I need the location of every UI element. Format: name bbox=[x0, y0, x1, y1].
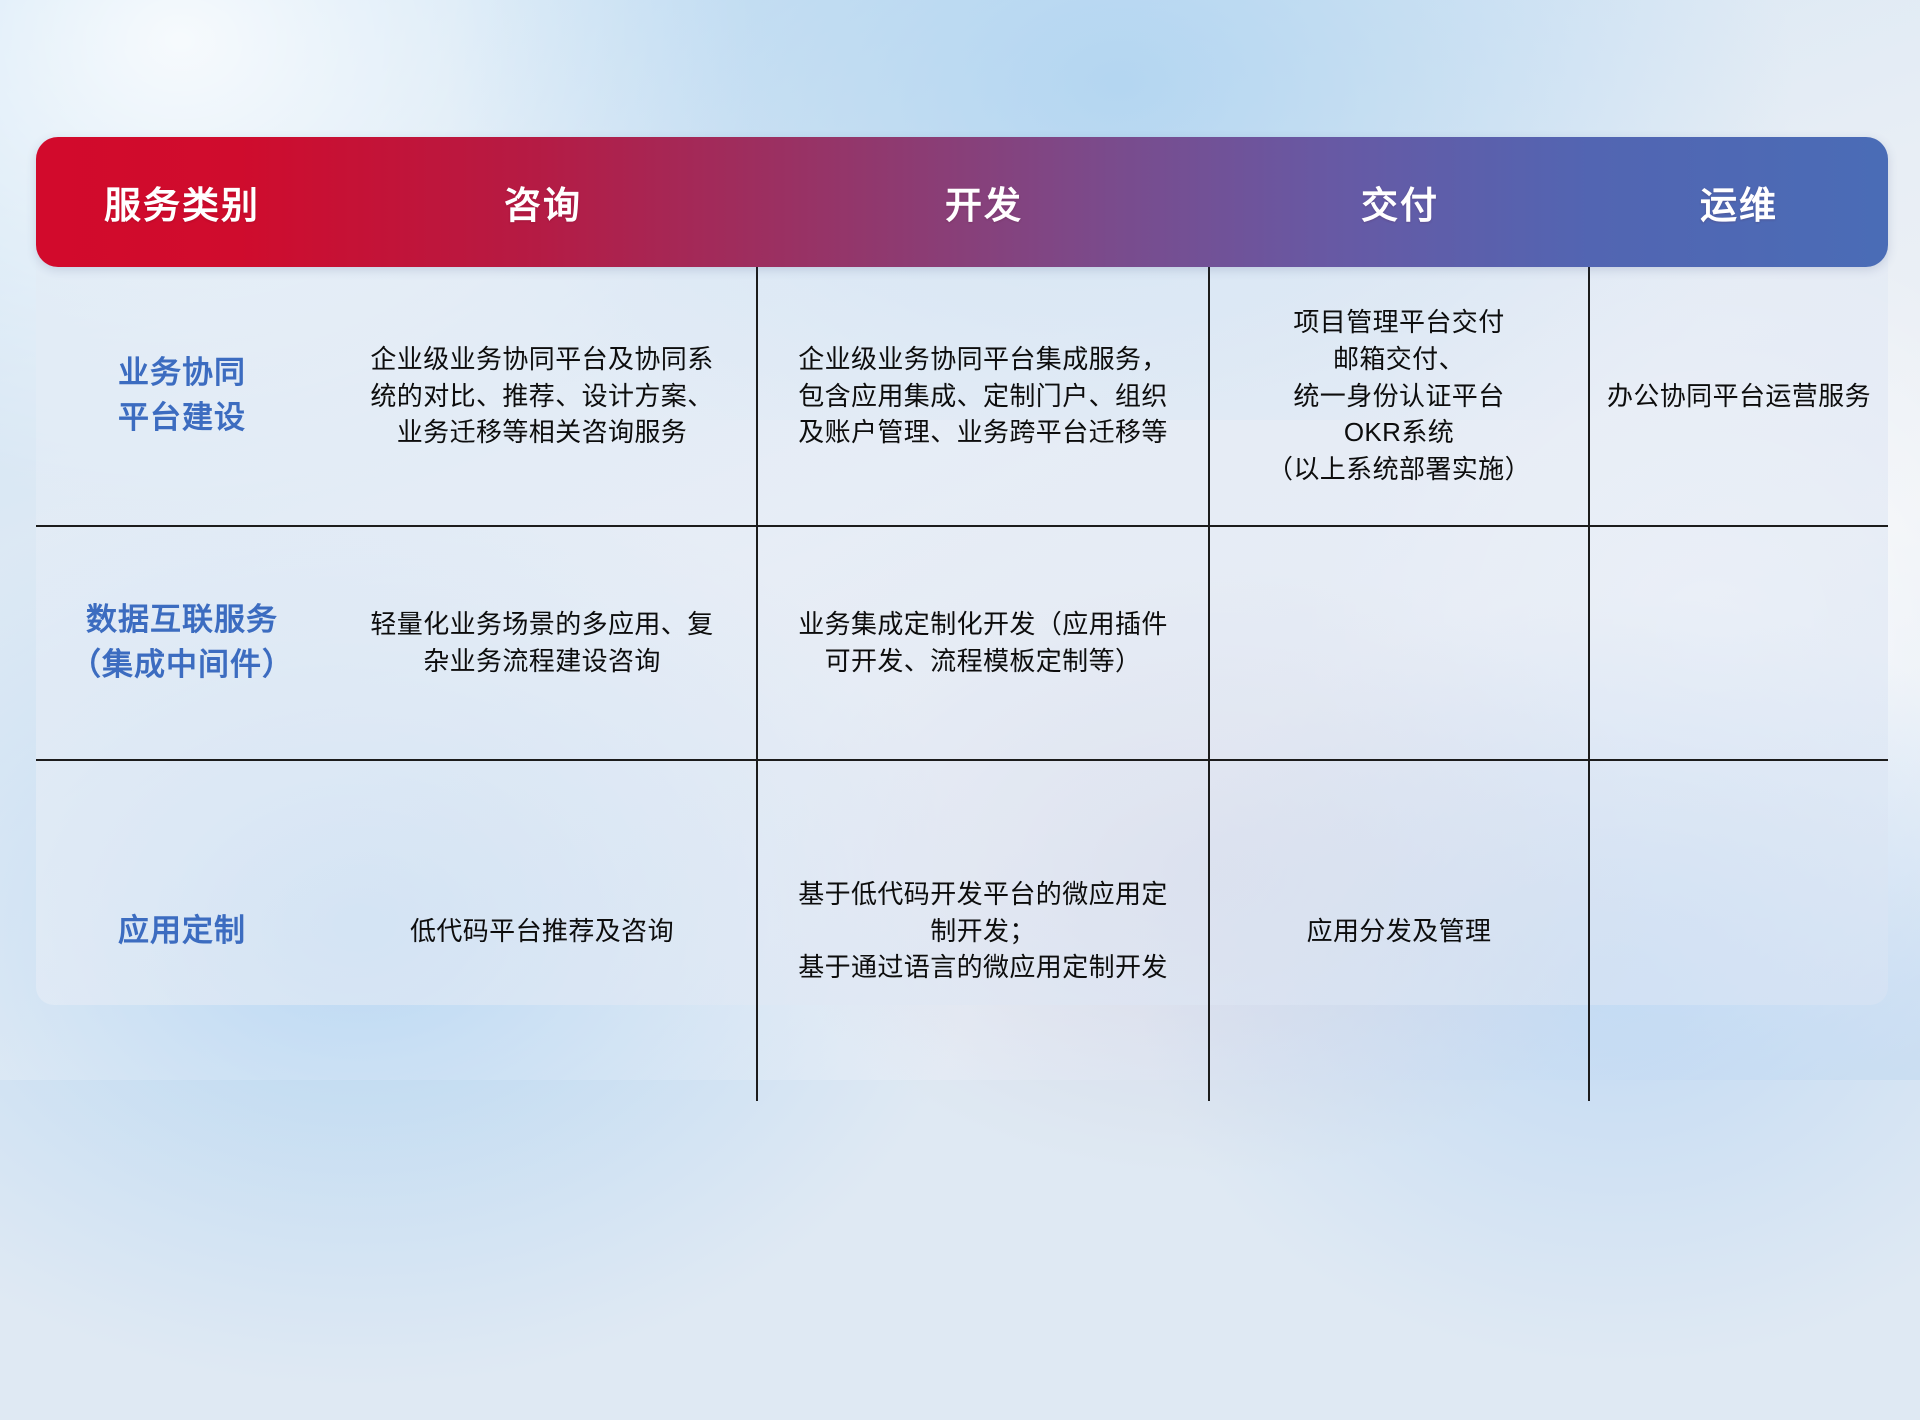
cell-operations-row3 bbox=[1590, 761, 1888, 1101]
table-row: 数据互联服务 （集成中间件） 轻量化业务场景的多应用、复 杂业务流程建设咨询 业… bbox=[36, 527, 1888, 761]
table-grid: 业务协同 平台建设 企业级业务协同平台及协同系 统的对比、推荐、设计方案、 业务… bbox=[36, 267, 1888, 1101]
cell-delivery-row3: 应用分发及管理 bbox=[1210, 761, 1590, 1101]
cell-text: 应用定制 bbox=[118, 909, 246, 954]
cell-text: 企业级业务协同平台集成服务， 包含应用集成、定制门户、组织 及账户管理、业务跨平… bbox=[798, 341, 1168, 452]
header-delivery: 交付 bbox=[1210, 137, 1590, 267]
cell-development-row2: 业务集成定制化开发（应用插件 可开发、流程模板定制等） bbox=[758, 527, 1210, 759]
cell-text: 应用分发及管理 bbox=[1307, 913, 1492, 950]
cell-delivery-row2 bbox=[1210, 527, 1590, 759]
cell-text: 项目管理平台交付 邮箱交付、 统一身份认证平台 OKR系统 （以上系统部署实施） bbox=[1267, 304, 1531, 489]
header-development-label: 开发 bbox=[945, 175, 1023, 229]
cell-category-row1: 业务协同 平台建设 bbox=[36, 267, 328, 525]
cell-text: 办公协同平台运营服务 bbox=[1607, 378, 1871, 415]
cell-category-row2: 数据互联服务 （集成中间件） bbox=[36, 527, 328, 759]
cell-category-row3: 应用定制 bbox=[36, 761, 328, 1101]
cell-delivery-row1: 项目管理平台交付 邮箱交付、 统一身份认证平台 OKR系统 （以上系统部署实施） bbox=[1210, 267, 1590, 525]
cell-development-row3: 基于低代码开发平台的微应用定 制开发； 基于通过语言的微应用定制开发 bbox=[758, 761, 1210, 1101]
table-header-row: 服务类别 咨询 开发 交付 运维 bbox=[36, 137, 1888, 267]
header-service-category-label: 服务类别 bbox=[104, 175, 260, 229]
table-row: 应用定制 低代码平台推荐及咨询 基于低代码开发平台的微应用定 制开发； 基于通过… bbox=[36, 761, 1888, 1101]
cell-consulting-row3: 低代码平台推荐及咨询 bbox=[328, 761, 758, 1101]
header-consulting: 咨询 bbox=[328, 137, 758, 267]
cell-operations-row1: 办公协同平台运营服务 bbox=[1590, 267, 1888, 525]
header-service-category: 服务类别 bbox=[36, 137, 328, 267]
cell-text: 数据互联服务 （集成中间件） bbox=[70, 598, 294, 688]
header-delivery-label: 交付 bbox=[1361, 175, 1439, 229]
cell-consulting-row2: 轻量化业务场景的多应用、复 杂业务流程建设咨询 bbox=[328, 527, 758, 759]
header-consulting-label: 咨询 bbox=[504, 175, 582, 229]
cell-text: 业务协同 平台建设 bbox=[118, 351, 246, 441]
cell-text: 低代码平台推荐及咨询 bbox=[410, 913, 674, 950]
header-operations: 运维 bbox=[1590, 137, 1888, 267]
header-operations-label: 运维 bbox=[1700, 175, 1778, 229]
cell-operations-row2 bbox=[1590, 527, 1888, 759]
cell-development-row1: 企业级业务协同平台集成服务， 包含应用集成、定制门户、组织 及账户管理、业务跨平… bbox=[758, 267, 1210, 525]
cell-text: 基于低代码开发平台的微应用定 制开发； 基于通过语言的微应用定制开发 bbox=[798, 876, 1168, 987]
cell-consulting-row1: 企业级业务协同平台及协同系 统的对比、推荐、设计方案、 业务迁移等相关咨询服务 bbox=[328, 267, 758, 525]
header-development: 开发 bbox=[758, 137, 1210, 267]
cell-text: 业务集成定制化开发（应用插件 可开发、流程模板定制等） bbox=[798, 606, 1168, 680]
service-matrix-table: 服务类别 咨询 开发 交付 运维 业务协同 平台建设 企业级业务协同平台及协同系… bbox=[36, 137, 1888, 1101]
table-row: 业务协同 平台建设 企业级业务协同平台及协同系 统的对比、推荐、设计方案、 业务… bbox=[36, 267, 1888, 527]
cell-text: 企业级业务协同平台及协同系 统的对比、推荐、设计方案、 业务迁移等相关咨询服务 bbox=[370, 341, 713, 452]
cell-text: 轻量化业务场景的多应用、复 杂业务流程建设咨询 bbox=[370, 606, 713, 680]
